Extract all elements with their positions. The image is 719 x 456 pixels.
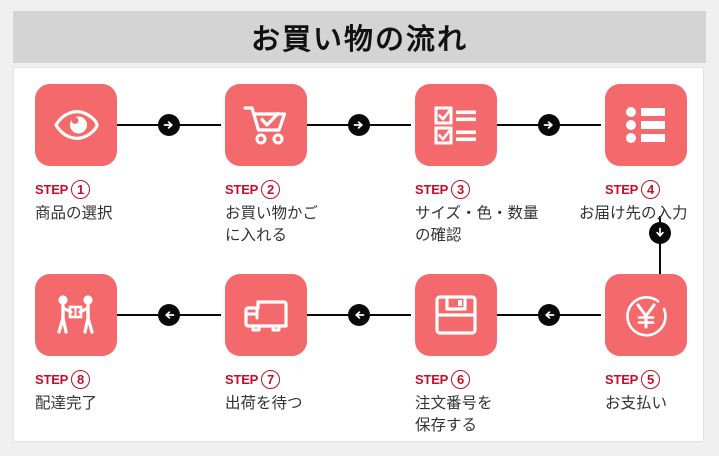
step-7-label: 出荷を待つ (225, 393, 307, 415)
step-7-word: STEP (225, 373, 258, 386)
arrow-step1-to-step2 (158, 114, 180, 136)
arrow-step6-to-step7 (348, 304, 370, 326)
step-1[interactable]: STEP 1 商品の選択 (35, 84, 117, 225)
step-3-label: サイズ・色・数量 の確認 (415, 203, 497, 247)
arrow-left-icon (353, 309, 365, 321)
step-3-number: 3 (451, 180, 470, 199)
step-6-word: STEP (415, 373, 448, 386)
step-8-tile[interactable] (35, 274, 117, 356)
step-5-tile[interactable] (605, 274, 687, 356)
step-6[interactable]: STEP 6 注文番号を 保存する (415, 274, 497, 437)
step-5-head: STEP 5 (605, 370, 687, 389)
yen-coin-icon (620, 289, 672, 341)
handover-package-icon (50, 289, 102, 341)
step-7[interactable]: STEP 7 出荷を待つ (225, 274, 307, 415)
arrow-right-icon (163, 119, 175, 131)
page-title: お買い物の流れ (251, 16, 468, 58)
step-8[interactable]: STEP 8 配達完了 (35, 274, 117, 415)
step-7-head: STEP 7 (225, 370, 307, 389)
step-3-word: STEP (415, 183, 448, 196)
step-6-number: 6 (451, 370, 470, 389)
flow-panel: STEP 1 商品の選択 STEP 2 お買い物かご に入れる (13, 67, 704, 442)
arrow-down-icon (654, 227, 666, 239)
step-8-number: 8 (71, 370, 90, 389)
step-5-word: STEP (605, 373, 638, 386)
step-5[interactable]: STEP 5 お支払い (605, 274, 687, 415)
step-6-label: 注文番号を 保存する (415, 393, 497, 437)
step-2-number: 2 (261, 180, 280, 199)
bullet-list-icon (620, 99, 672, 151)
step-4-head: STEP 4 (605, 180, 687, 199)
arrow-left-icon (543, 309, 555, 321)
step-2-label: お買い物かご に入れる (225, 203, 307, 247)
title-banner: お買い物の流れ (13, 11, 706, 63)
step-1-tile[interactable] (35, 84, 117, 166)
step-5-number: 5 (641, 370, 660, 389)
step-7-number: 7 (261, 370, 280, 389)
floppy-save-icon (430, 289, 482, 341)
arrow-step4-to-step5 (649, 222, 671, 244)
step-4-label: お届け先の入力 (579, 203, 709, 225)
step-7-tile[interactable] (225, 274, 307, 356)
eye-icon (50, 99, 102, 151)
step-6-tile[interactable] (415, 274, 497, 356)
step-3-tile[interactable] (415, 84, 497, 166)
step-1-number: 1 (71, 180, 90, 199)
step-4-word: STEP (605, 183, 638, 196)
step-3-head: STEP 3 (415, 180, 497, 199)
step-2[interactable]: STEP 2 お買い物かご に入れる (225, 84, 307, 247)
arrow-step2-to-step3 (348, 114, 370, 136)
step-4[interactable]: STEP 4 お届け先の入力 (605, 84, 687, 225)
step-4-tile[interactable] (605, 84, 687, 166)
step-8-head: STEP 8 (35, 370, 117, 389)
step-5-label: お支払い (605, 393, 687, 415)
step-1-head: STEP 1 (35, 180, 117, 199)
step-6-head: STEP 6 (415, 370, 497, 389)
arrow-step7-to-step8 (158, 304, 180, 326)
step-2-tile[interactable] (225, 84, 307, 166)
step-8-label: 配達完了 (35, 393, 117, 415)
step-3[interactable]: STEP 3 サイズ・色・数量 の確認 (415, 84, 497, 247)
arrow-right-icon (543, 119, 555, 131)
shopping-cart-check-icon (240, 99, 292, 151)
step-2-word: STEP (225, 183, 258, 196)
arrow-left-icon (163, 309, 175, 321)
step-2-head: STEP 2 (225, 180, 307, 199)
step-1-label: 商品の選択 (35, 203, 117, 225)
step-8-word: STEP (35, 373, 68, 386)
step-4-number: 4 (641, 180, 660, 199)
delivery-truck-icon (240, 289, 292, 341)
arrow-right-icon (353, 119, 365, 131)
shopping-flow-diagram: お買い物の流れ (0, 0, 719, 456)
arrow-step3-to-step4 (538, 114, 560, 136)
checklist-icon (430, 99, 482, 151)
arrow-step5-to-step6 (538, 304, 560, 326)
step-1-word: STEP (35, 183, 68, 196)
